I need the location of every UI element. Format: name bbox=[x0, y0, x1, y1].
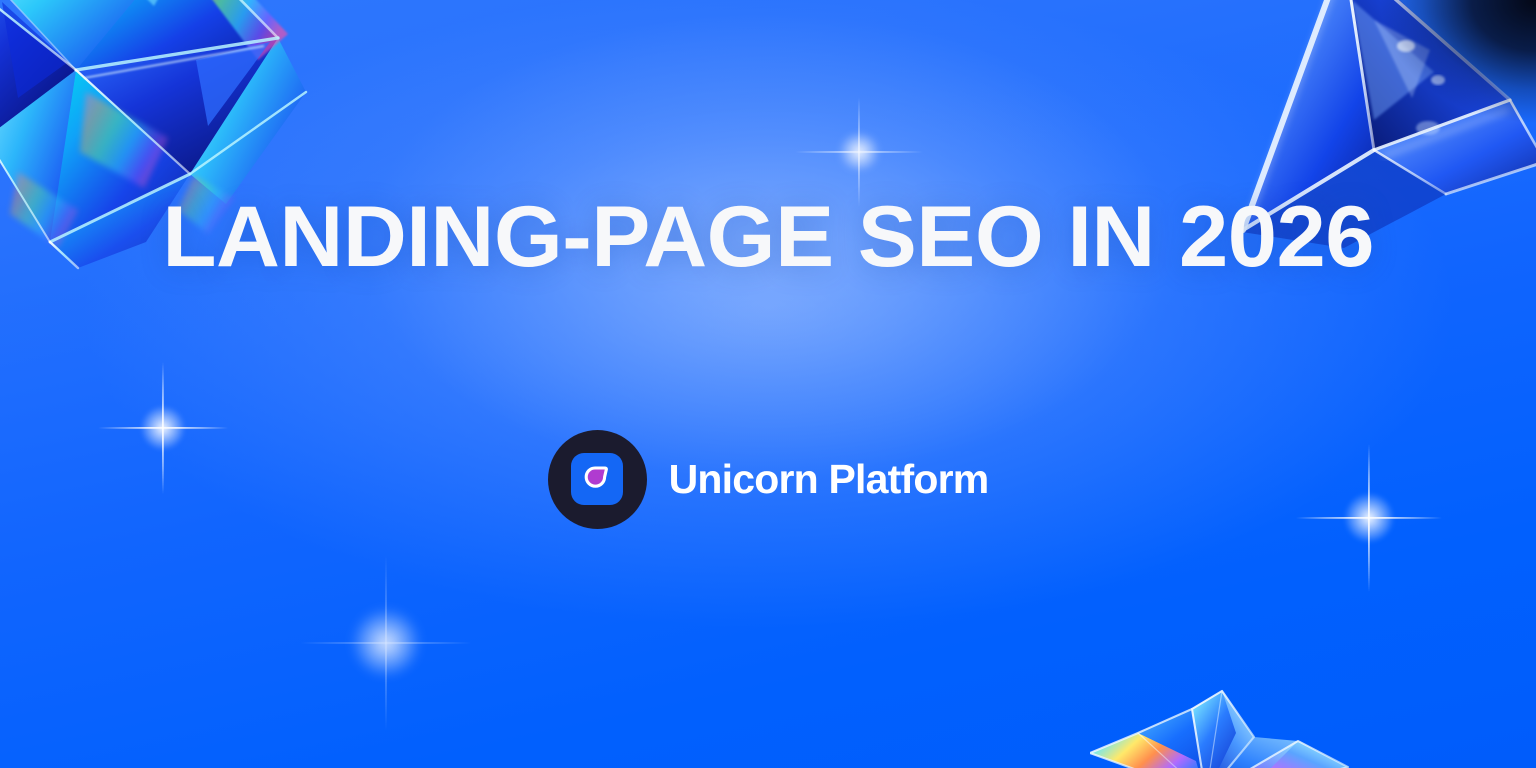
brand-name: Unicorn Platform bbox=[669, 456, 989, 503]
logo-tile bbox=[571, 453, 623, 505]
hero-banner: LANDING-PAGE SEO IN 2026 Unicorn Platfor… bbox=[0, 0, 1536, 768]
unicorn-platform-logo bbox=[548, 430, 647, 529]
page-title: LANDING-PAGE SEO IN 2026 bbox=[162, 194, 1374, 280]
unicorn-leaf-drop-icon bbox=[580, 462, 614, 496]
hero-content: LANDING-PAGE SEO IN 2026 Unicorn Platfor… bbox=[0, 0, 1536, 768]
brand-lockup: Unicorn Platform bbox=[548, 430, 989, 529]
